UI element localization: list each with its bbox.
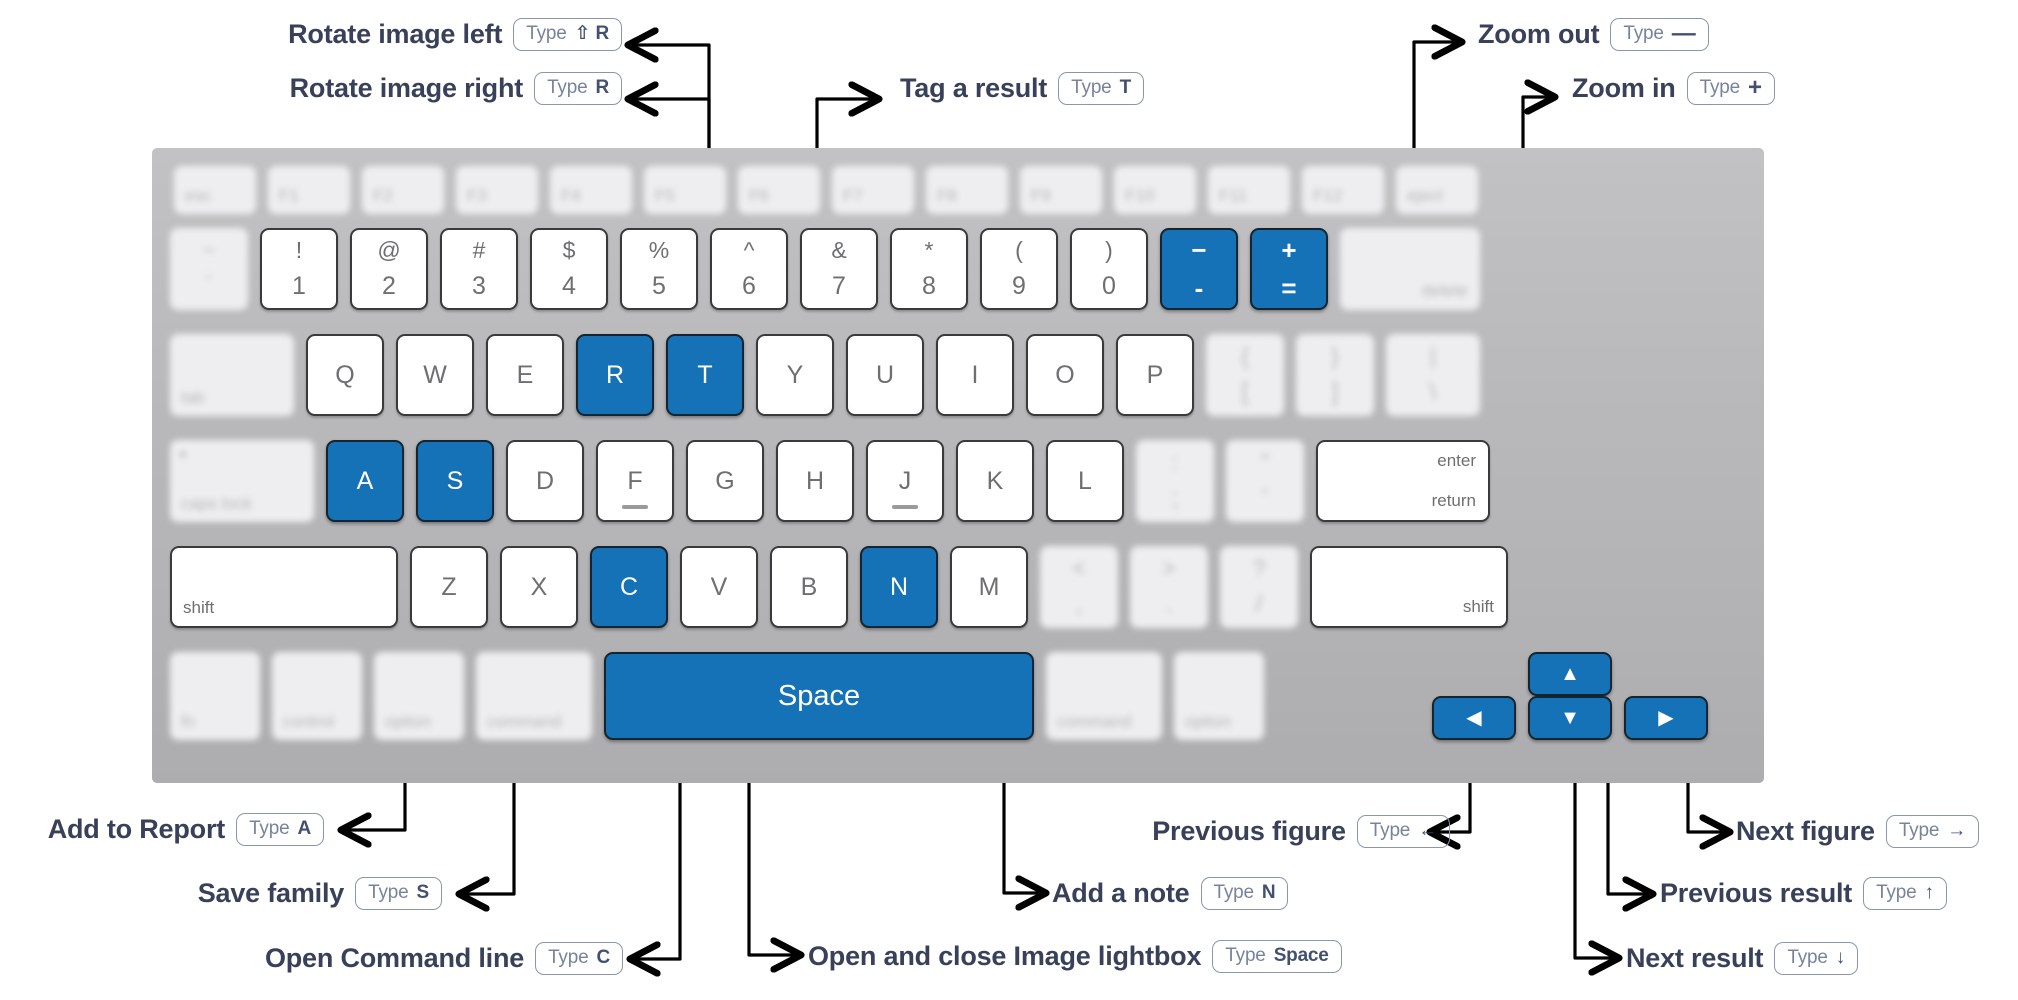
- callout-open-close-image-lightbox: Open and close Image lightbox Type Space: [808, 940, 1342, 973]
- badge-prefix: Type: [1623, 22, 1663, 46]
- key-p[interactable]: P: [1116, 334, 1194, 416]
- key-label-bottom: 3: [472, 274, 486, 299]
- key-w[interactable]: W: [396, 334, 474, 416]
- badge-prefix: Type: [1899, 819, 1939, 843]
- key-tab[interactable]: tab: [170, 334, 294, 416]
- key-label: G: [715, 467, 734, 496]
- key-slash[interactable]: ? /: [1220, 546, 1298, 628]
- badge-key: Space: [1274, 944, 1329, 968]
- shortcut-badge: Type ⇧ R: [513, 18, 622, 51]
- shortcut-badge: Type S: [355, 877, 442, 910]
- arrow-key-cluster: ◀ ▲ ▼ ▶: [1432, 652, 1716, 740]
- key-z[interactable]: Z: [410, 546, 488, 628]
- shortcut-badge: Type Space: [1212, 940, 1341, 973]
- key-d[interactable]: D: [506, 440, 584, 522]
- key-label: L: [1078, 467, 1092, 496]
- key-label: delete: [1422, 281, 1468, 301]
- key-label-bottom: /: [1256, 592, 1263, 617]
- key-x[interactable]: X: [500, 546, 578, 628]
- key-arrow-right[interactable]: ▶: [1624, 696, 1708, 740]
- key-label: W: [423, 361, 447, 390]
- key-f5[interactable]: F5: [644, 166, 726, 214]
- key-label-top: :: [1172, 451, 1178, 474]
- key-e[interactable]: E: [486, 334, 564, 416]
- key-control[interactable]: control: [272, 652, 362, 740]
- key-label: command: [487, 712, 562, 732]
- key-f10[interactable]: F10: [1114, 166, 1196, 214]
- key-label: E: [517, 361, 534, 390]
- key-u[interactable]: U: [846, 334, 924, 416]
- badge-prefix: Type: [1225, 944, 1265, 968]
- key-label: F11: [1219, 186, 1247, 206]
- key-label: Y: [787, 361, 804, 390]
- key-label: O: [1055, 361, 1074, 390]
- badge-prefix: Type: [1700, 76, 1740, 100]
- key-label-bottom: ': [1263, 486, 1268, 511]
- key-label: shift: [1463, 597, 1494, 617]
- badge-prefix: Type: [547, 76, 587, 100]
- shortcut-badge: Type C: [535, 942, 623, 975]
- keyboard: esc F1 F2 F3 F4 F5 F6 F7 F8 F9 F10: [152, 148, 1764, 783]
- key-label: T: [697, 361, 712, 390]
- key-label-top: {: [1241, 345, 1249, 368]
- badge-prefix: Type: [368, 881, 408, 905]
- key-bracket-right[interactable]: } ]: [1296, 334, 1374, 416]
- key-space[interactable]: Space: [604, 652, 1034, 740]
- key-9[interactable]: ( 9: [980, 228, 1058, 310]
- key-label-top: |: [1430, 345, 1436, 368]
- key-option-right[interactable]: option: [1174, 652, 1264, 740]
- callout-label: Rotate image left: [288, 19, 502, 50]
- callout-previous-figure: Previous figure Type ←: [1152, 815, 1450, 848]
- keyboard-row-home: ● caps lock A S D F G H J K L: [170, 440, 1490, 522]
- key-arrow-up[interactable]: ▲: [1528, 652, 1612, 696]
- key-4[interactable]: $ 4: [530, 228, 608, 310]
- callout-label: Previous figure: [1152, 816, 1346, 847]
- key-0[interactable]: ) 0: [1070, 228, 1148, 310]
- badge-key: S: [417, 881, 429, 905]
- key-label-top: (: [1015, 239, 1023, 262]
- key-period[interactable]: > .: [1130, 546, 1208, 628]
- badge-key: C: [596, 946, 610, 970]
- key-j[interactable]: J: [866, 440, 944, 522]
- arrow-left-icon: ◀: [1466, 708, 1481, 728]
- shortcut-badge: Type ↑: [1863, 877, 1947, 910]
- badge-key: →: [1947, 819, 1966, 843]
- badge-key: +: [1748, 78, 1762, 97]
- key-label-top: $: [563, 239, 576, 262]
- key-label: H: [806, 467, 824, 496]
- key-label-top: *: [925, 239, 934, 262]
- key-arrow-down[interactable]: ▼: [1528, 696, 1612, 740]
- key-1[interactable]: ! 1: [260, 228, 338, 310]
- key-label: Space: [778, 680, 860, 713]
- key-label: fn: [181, 712, 195, 732]
- key-label-top: @: [377, 239, 400, 262]
- key-label-top: ": [1261, 451, 1269, 474]
- key-k[interactable]: K: [956, 440, 1034, 522]
- callout-add-a-note: Add a note Type N: [1052, 877, 1288, 910]
- callout-add-to-report: Add to Report Type A: [48, 813, 324, 846]
- key-label-top: }: [1331, 345, 1339, 368]
- callout-label: Zoom out: [1478, 19, 1599, 50]
- key-minus[interactable]: − -: [1160, 228, 1238, 310]
- key-label: D: [536, 467, 554, 496]
- key-label: K: [987, 467, 1004, 496]
- key-label: F9: [1031, 186, 1051, 206]
- callout-label: Next figure: [1736, 816, 1875, 847]
- key-label-bottom: -: [1195, 275, 1204, 301]
- callout-label: Open Command line: [265, 943, 524, 974]
- key-label: control: [283, 712, 334, 732]
- keyboard-row-shift: shift Z X C V B N M < , >: [170, 546, 1508, 628]
- shortcut-badge: Type A: [236, 813, 324, 846]
- callout-label: Save family: [198, 878, 344, 909]
- key-m[interactable]: M: [950, 546, 1028, 628]
- key-label: Z: [441, 573, 456, 602]
- arrow-up-icon: ▲: [1560, 664, 1580, 684]
- key-label-top: ~: [202, 239, 215, 262]
- keyboard-row-bottom: fn control option command Space command …: [170, 652, 1264, 740]
- shortcut-badge: Type R: [534, 72, 622, 105]
- key-label: P: [1147, 361, 1164, 390]
- key-i[interactable]: I: [936, 334, 1014, 416]
- key-equals[interactable]: + =: [1250, 228, 1328, 310]
- badge-key: ←: [1418, 819, 1437, 843]
- key-label: F7: [843, 186, 863, 206]
- homing-bar-icon: [622, 505, 648, 509]
- key-q[interactable]: Q: [306, 334, 384, 416]
- key-label: V: [711, 573, 728, 602]
- key-label: A: [357, 467, 374, 496]
- key-label-bottom: `: [205, 274, 213, 299]
- callout-label: Rotate image right: [290, 73, 523, 104]
- key-l[interactable]: L: [1046, 440, 1124, 522]
- key-label: esc: [185, 186, 211, 206]
- key-label-bottom: 5: [652, 274, 666, 299]
- key-label: eject: [1407, 186, 1443, 206]
- caps-lock-indicator: ●: [179, 446, 187, 461]
- key-label-bottom: 9: [1012, 274, 1026, 299]
- arrow-down-icon: ▼: [1560, 708, 1580, 728]
- badge-prefix: Type: [1787, 946, 1827, 970]
- badge-key: T: [1120, 76, 1131, 100]
- keyboard-row-top: tab Q W E R T Y U I O P: [170, 334, 1480, 416]
- key-comma[interactable]: < ,: [1040, 546, 1118, 628]
- key-backslash[interactable]: | \: [1386, 334, 1480, 416]
- badge-key: —: [1672, 24, 1696, 43]
- key-label: X: [531, 573, 548, 602]
- key-label-bottom: 8: [922, 274, 936, 299]
- key-label-bottom: \: [1430, 380, 1437, 405]
- key-2[interactable]: @ 2: [350, 228, 428, 310]
- key-label-top: #: [473, 239, 486, 262]
- key-6[interactable]: ^ 6: [710, 228, 788, 310]
- key-label: B: [801, 573, 818, 602]
- key-semicolon[interactable]: : ;: [1136, 440, 1214, 522]
- badge-prefix: Type: [1876, 881, 1916, 905]
- callout-previous-result: Previous result Type ↑: [1660, 877, 1947, 910]
- key-quote[interactable]: " ': [1226, 440, 1304, 522]
- key-label: F1: [279, 186, 299, 206]
- callout-tag-a-result: Tag a result Type T: [900, 72, 1144, 105]
- key-label-bottom: ,: [1076, 592, 1083, 617]
- key-shift-right[interactable]: shift: [1310, 546, 1508, 628]
- key-f4[interactable]: F4: [550, 166, 632, 214]
- badge-key: ↓: [1836, 946, 1845, 970]
- key-7[interactable]: & 7: [800, 228, 878, 310]
- shortcut-badge: Type N: [1201, 877, 1289, 910]
- key-label-top: +: [1281, 237, 1296, 263]
- key-label-top: enter: [1437, 451, 1476, 471]
- homing-bar-icon: [892, 505, 918, 509]
- key-label-top: ): [1105, 239, 1113, 262]
- key-label: I: [972, 361, 979, 390]
- key-s[interactable]: S: [416, 440, 494, 522]
- key-8[interactable]: * 8: [890, 228, 968, 310]
- key-f8[interactable]: F8: [926, 166, 1008, 214]
- key-f7[interactable]: F7: [832, 166, 914, 214]
- key-5[interactable]: % 5: [620, 228, 698, 310]
- key-label-top: −: [1191, 237, 1206, 263]
- key-o[interactable]: O: [1026, 334, 1104, 416]
- shortcut-badge: Type →: [1886, 815, 1979, 848]
- key-label: R: [606, 361, 624, 390]
- key-label: Q: [335, 361, 354, 390]
- key-label: command: [1057, 712, 1132, 732]
- key-caps-lock[interactable]: ● caps lock: [170, 440, 314, 522]
- key-v[interactable]: V: [680, 546, 758, 628]
- key-backtick[interactable]: ~ `: [170, 228, 248, 310]
- badge-prefix: Type: [526, 22, 566, 46]
- callout-open-command-line: Open Command line Type C: [265, 942, 623, 975]
- badge-key: ↑: [1924, 881, 1933, 905]
- key-b[interactable]: B: [770, 546, 848, 628]
- shortcut-badge: Type ↓: [1774, 942, 1858, 975]
- key-f3[interactable]: F3: [456, 166, 538, 214]
- key-arrow-left[interactable]: ◀: [1432, 696, 1516, 740]
- key-f1[interactable]: F1: [268, 166, 350, 214]
- key-label: F4: [561, 186, 581, 206]
- callout-zoom-in: Zoom in Type +: [1572, 72, 1775, 105]
- key-label-top: ^: [744, 239, 755, 262]
- callout-label: Zoom in: [1572, 73, 1676, 104]
- badge-prefix: Type: [548, 946, 588, 970]
- key-label: tab: [181, 388, 205, 408]
- callout-save-family: Save family Type S: [198, 877, 442, 910]
- key-esc[interactable]: esc: [174, 166, 256, 214]
- key-eject[interactable]: eject: [1396, 166, 1478, 214]
- key-g[interactable]: G: [686, 440, 764, 522]
- key-label: shift: [183, 598, 214, 618]
- keyboard-row-function: esc F1 F2 F3 F4 F5 F6 F7 F8 F9 F10: [174, 166, 1478, 214]
- shortcut-badge: Type +: [1687, 72, 1775, 105]
- key-f2[interactable]: F2: [362, 166, 444, 214]
- key-label: F: [627, 467, 642, 496]
- key-label: F5: [655, 186, 675, 206]
- key-label: F2: [373, 186, 393, 206]
- callout-label: Next result: [1626, 943, 1763, 974]
- key-label-top: ?: [1253, 557, 1266, 580]
- key-f[interactable]: F: [596, 440, 674, 522]
- key-label-bottom: 6: [742, 274, 756, 299]
- key-f9[interactable]: F9: [1020, 166, 1102, 214]
- key-n[interactable]: N: [860, 546, 938, 628]
- key-label: F10: [1125, 186, 1154, 206]
- key-command-left[interactable]: command: [476, 652, 592, 740]
- key-label-bottom: ;: [1172, 486, 1179, 511]
- callout-label: Add a note: [1052, 878, 1190, 909]
- callout-next-figure: Next figure Type →: [1736, 815, 1979, 848]
- badge-prefix: Type: [1214, 881, 1254, 905]
- key-label-bottom: 1: [292, 274, 306, 299]
- key-f12[interactable]: F12: [1302, 166, 1384, 214]
- key-label: F6: [749, 186, 769, 206]
- shortcuts-diagram: Rotate image left Type ⇧ R Rotate image …: [0, 0, 2018, 1000]
- key-label: option: [385, 712, 431, 732]
- key-label: C: [620, 573, 638, 602]
- key-delete[interactable]: delete: [1340, 228, 1480, 310]
- key-label: F12: [1313, 186, 1342, 206]
- key-bracket-left[interactable]: { [: [1206, 334, 1284, 416]
- key-label: F3: [467, 186, 487, 206]
- key-shift-left[interactable]: shift: [170, 546, 398, 628]
- callout-zoom-out: Zoom out Type —: [1478, 18, 1709, 51]
- key-label-bottom: 7: [832, 274, 846, 299]
- badge-key: A: [297, 817, 311, 841]
- callout-next-result: Next result Type ↓: [1626, 942, 1858, 975]
- key-3[interactable]: # 3: [440, 228, 518, 310]
- key-y[interactable]: Y: [756, 334, 834, 416]
- key-label-bottom: [: [1242, 380, 1249, 405]
- key-r[interactable]: R: [576, 334, 654, 416]
- key-h[interactable]: H: [776, 440, 854, 522]
- key-label-top: >: [1162, 557, 1175, 580]
- key-label-bottom: return: [1432, 491, 1476, 511]
- callout-label: Previous result: [1660, 878, 1852, 909]
- key-c[interactable]: C: [590, 546, 668, 628]
- badge-prefix: Type: [1071, 76, 1111, 100]
- key-label: F8: [937, 186, 957, 206]
- callout-label: Add to Report: [48, 814, 225, 845]
- key-label-top: !: [296, 239, 302, 262]
- key-label-bottom: ]: [1332, 380, 1339, 405]
- callout-rotate-image-right: Rotate image right Type R: [290, 72, 622, 105]
- key-command-right[interactable]: command: [1046, 652, 1162, 740]
- key-label: N: [890, 573, 908, 602]
- callout-label: Tag a result: [900, 73, 1047, 104]
- key-label: option: [1185, 712, 1231, 732]
- key-label-top: %: [649, 239, 669, 262]
- arrow-right-icon: ▶: [1658, 708, 1673, 728]
- key-option-left[interactable]: option: [374, 652, 464, 740]
- badge-prefix: Type: [1370, 819, 1410, 843]
- key-label-bottom: 0: [1102, 274, 1116, 299]
- key-label: J: [899, 467, 912, 496]
- key-label-bottom: =: [1281, 275, 1296, 301]
- key-label-top: <: [1072, 557, 1085, 580]
- key-label-top: &: [831, 239, 846, 262]
- key-return[interactable]: enter return: [1316, 440, 1490, 522]
- badge-key: ⇧ R: [575, 22, 609, 46]
- shortcut-badge: Type T: [1058, 72, 1144, 105]
- callout-label: Open and close Image lightbox: [808, 941, 1201, 972]
- key-label: S: [447, 467, 464, 496]
- key-f11[interactable]: F11: [1208, 166, 1290, 214]
- badge-prefix: Type: [249, 817, 289, 841]
- key-label-bottom: .: [1166, 592, 1173, 617]
- badge-key: N: [1262, 881, 1276, 905]
- key-label-bottom: 2: [382, 274, 396, 299]
- key-fn[interactable]: fn: [170, 652, 260, 740]
- keyboard-row-number: ~ ` ! 1 @ 2 # 3 $ 4: [170, 228, 1480, 310]
- key-f6[interactable]: F6: [738, 166, 820, 214]
- badge-key: R: [595, 76, 609, 100]
- key-a[interactable]: A: [326, 440, 404, 522]
- key-label: caps lock: [181, 494, 252, 514]
- key-label-bottom: 4: [562, 274, 576, 299]
- shortcut-badge: Type ←: [1357, 815, 1450, 848]
- key-label: U: [876, 361, 894, 390]
- shortcut-badge: Type —: [1610, 18, 1708, 51]
- callout-rotate-image-left: Rotate image left Type ⇧ R: [288, 18, 622, 51]
- key-label: M: [979, 573, 1000, 602]
- key-t[interactable]: T: [666, 334, 744, 416]
